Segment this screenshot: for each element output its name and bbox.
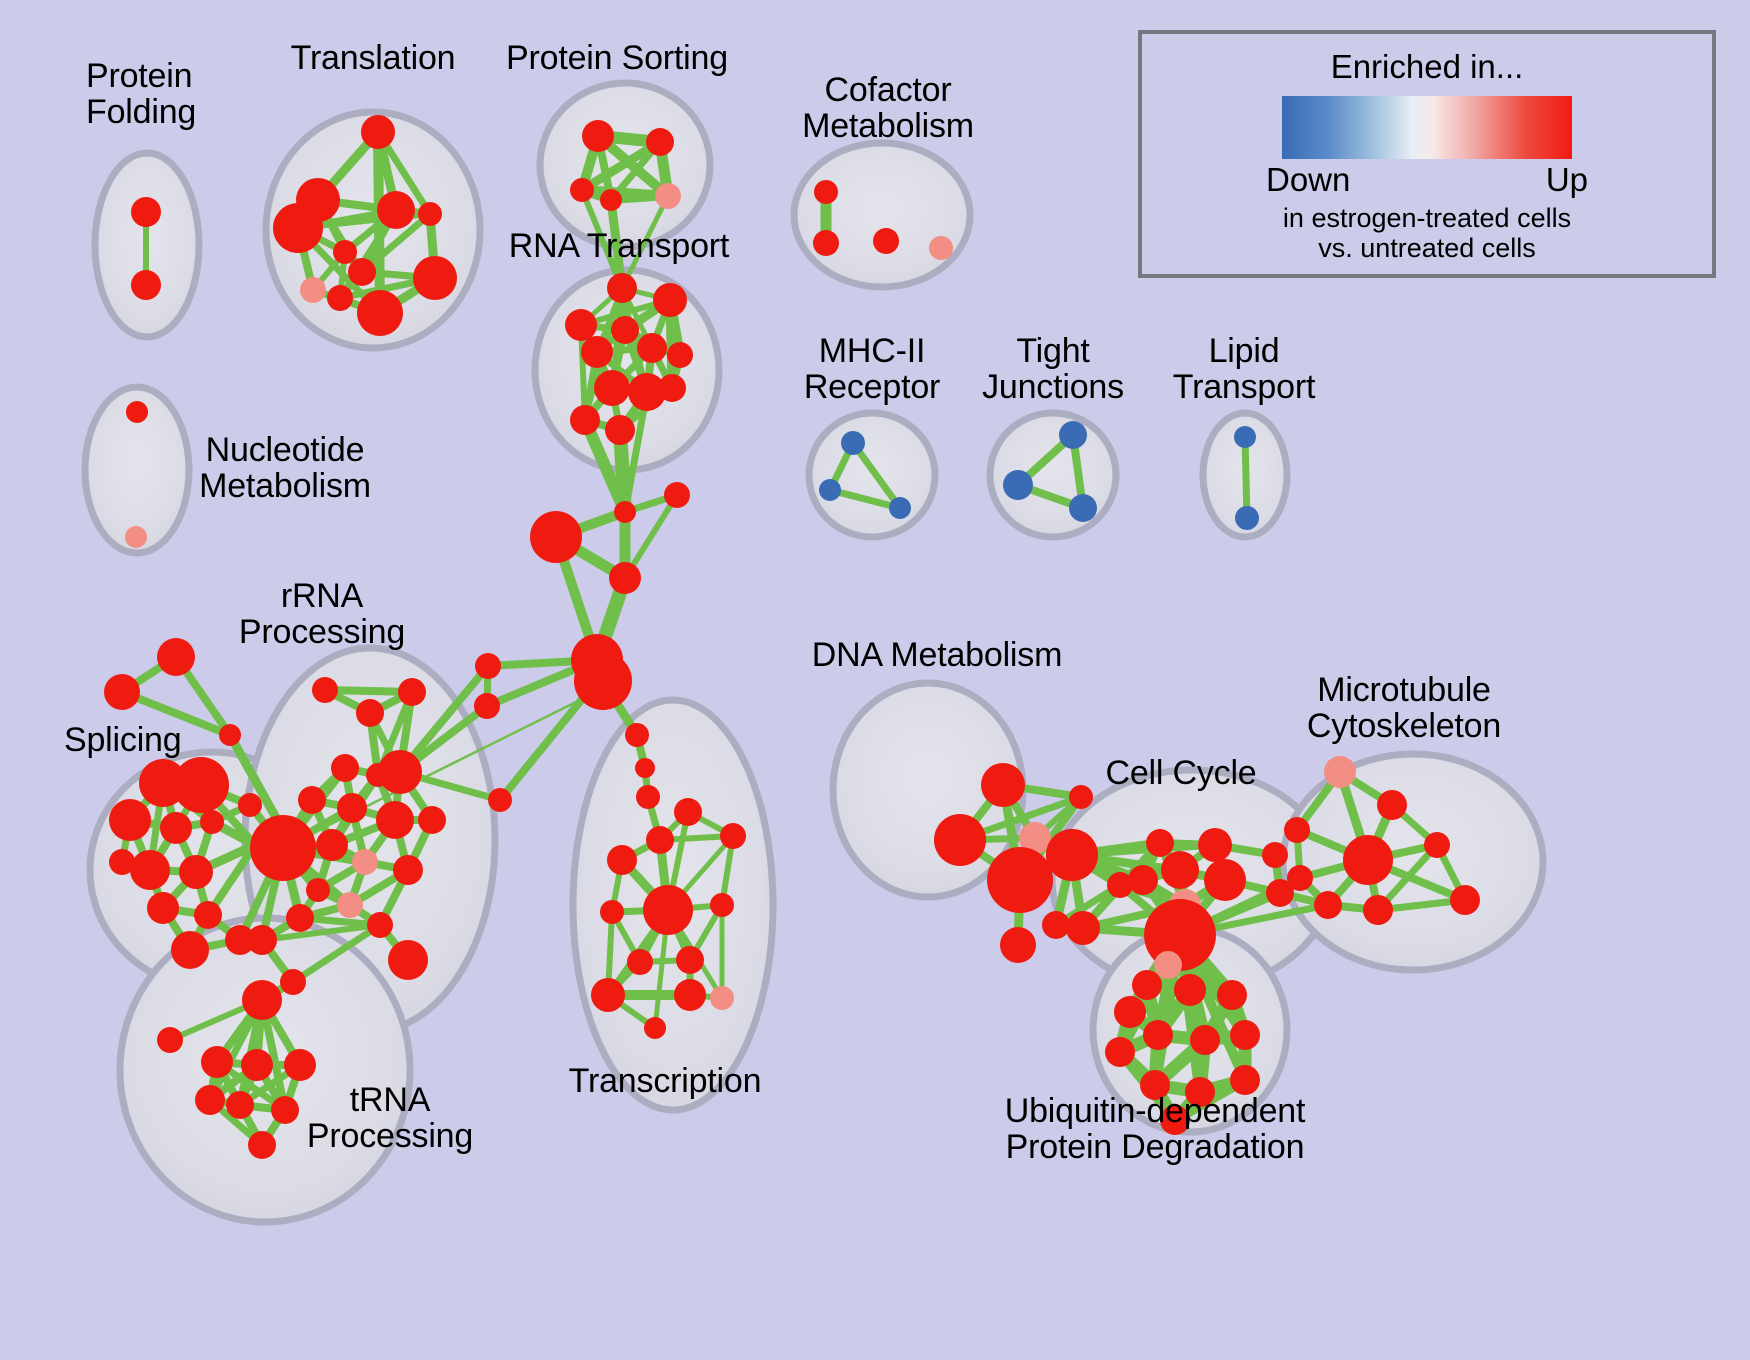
- node: [241, 1049, 273, 1081]
- cluster-label-nucleotide-metabolism: Nucleotide Metabolism: [199, 432, 371, 504]
- node: [1190, 1025, 1220, 1055]
- node: [125, 526, 147, 548]
- node: [929, 236, 953, 260]
- cluster-label-rna-transport: RNA Transport: [509, 228, 729, 264]
- cluster-label-protein-sorting: Protein Sorting: [506, 40, 728, 76]
- node: [611, 316, 639, 344]
- node: [413, 256, 457, 300]
- node: [1324, 756, 1356, 788]
- node: [607, 273, 637, 303]
- node: [1069, 785, 1093, 809]
- cluster-label-protein-folding: Protein Folding: [86, 58, 196, 130]
- cluster-label-ubiquitin-protein-degradation: Ubiquitin-dependent Protein Degradation: [1005, 1093, 1306, 1165]
- node: [195, 1085, 225, 1115]
- node: [306, 878, 330, 902]
- node: [600, 900, 624, 924]
- node: [393, 855, 423, 885]
- node: [1132, 970, 1162, 1000]
- node: [300, 277, 326, 303]
- node: [333, 240, 357, 264]
- node: [981, 763, 1025, 807]
- legend-panel: Enriched in... Down Up in estrogen-treat…: [1138, 30, 1716, 278]
- node: [284, 1049, 316, 1081]
- node: [337, 793, 367, 823]
- node: [357, 290, 403, 336]
- node: [348, 258, 376, 286]
- cluster-label-trna-processing: tRNA Processing: [307, 1082, 473, 1154]
- cluster-ellipse-microtubule: [1283, 754, 1543, 970]
- node: [157, 1027, 183, 1053]
- node: [674, 979, 706, 1011]
- node: [1154, 951, 1182, 979]
- node: [1174, 974, 1206, 1006]
- node: [581, 336, 613, 368]
- node: [637, 333, 667, 363]
- cluster-label-dna-metabolism: DNA Metabolism: [812, 637, 1062, 673]
- node: [646, 826, 674, 854]
- cluster-label-mhc-ii-receptor: MHC-II Receptor: [804, 333, 940, 405]
- node: [1314, 891, 1342, 919]
- node: [636, 785, 660, 809]
- node: [1377, 790, 1407, 820]
- node: [1069, 494, 1097, 522]
- node: [131, 197, 161, 227]
- node: [643, 885, 693, 935]
- node: [530, 511, 582, 563]
- cluster-label-microtubule-cytoskeleton: Microtubule Cytoskeleton: [1307, 672, 1501, 744]
- node: [1287, 865, 1313, 891]
- node: [565, 309, 597, 341]
- node: [194, 901, 222, 929]
- node: [594, 370, 630, 406]
- node: [600, 189, 622, 211]
- node: [674, 798, 702, 826]
- node: [1217, 980, 1247, 1010]
- node: [280, 969, 306, 995]
- node: [160, 812, 192, 844]
- node: [312, 677, 338, 703]
- node: [720, 823, 746, 849]
- node: [126, 401, 148, 423]
- node: [609, 562, 641, 594]
- node: [219, 724, 241, 746]
- cluster-label-translation: Translation: [291, 40, 456, 76]
- node: [179, 855, 213, 889]
- node: [488, 788, 512, 812]
- node: [331, 754, 359, 782]
- node: [1230, 1020, 1260, 1050]
- node: [1363, 895, 1393, 925]
- node: [667, 342, 693, 368]
- cluster-label-rrna-processing: rRNA Processing: [239, 578, 405, 650]
- cluster-label-cofactor-metabolism: Cofactor Metabolism: [802, 72, 974, 144]
- node: [378, 750, 422, 794]
- node: [655, 183, 681, 209]
- cluster-label-cell-cycle: Cell Cycle: [1105, 755, 1256, 791]
- node: [157, 638, 195, 676]
- node: [247, 925, 277, 955]
- cluster-label-lipid-transport: Lipid Transport: [1173, 333, 1315, 405]
- node: [574, 652, 632, 710]
- node: [889, 497, 911, 519]
- node: [646, 128, 674, 156]
- node: [474, 693, 500, 719]
- node: [1059, 421, 1087, 449]
- node: [635, 758, 655, 778]
- node: [200, 810, 224, 834]
- legend-subtitle: in estrogen-treated cells vs. untreated …: [1142, 203, 1712, 263]
- node: [238, 793, 262, 817]
- node: [173, 757, 229, 813]
- node: [591, 978, 625, 1012]
- legend-color-gradient: [1282, 96, 1572, 159]
- node: [819, 479, 841, 501]
- node: [418, 806, 446, 834]
- node: [873, 228, 899, 254]
- node: [1105, 1037, 1135, 1067]
- node: [109, 799, 151, 841]
- cluster-label-transcription: Transcription: [569, 1063, 762, 1099]
- node: [367, 912, 393, 938]
- node: [475, 653, 501, 679]
- node: [109, 849, 135, 875]
- node: [1284, 817, 1310, 843]
- node: [1046, 829, 1098, 881]
- node: [418, 202, 442, 226]
- node: [1235, 506, 1259, 530]
- node: [242, 980, 282, 1020]
- node: [841, 431, 865, 455]
- node: [1042, 911, 1070, 939]
- network-figure: .cl { fill:url(#cgrad); stroke:#adadc2; …: [0, 0, 1750, 1360]
- node: [1450, 885, 1480, 915]
- node: [130, 850, 170, 890]
- node: [1143, 1020, 1173, 1050]
- legend-title: Enriched in...: [1142, 48, 1712, 86]
- node: [1262, 842, 1288, 868]
- node: [607, 845, 637, 875]
- node: [352, 849, 378, 875]
- node: [147, 892, 179, 924]
- node: [327, 285, 353, 311]
- cluster-ellipse-cofactor: [794, 143, 970, 287]
- node: [1230, 1065, 1260, 1095]
- node: [644, 1017, 666, 1039]
- node: [1000, 927, 1036, 963]
- node: [1114, 996, 1146, 1028]
- node: [1003, 470, 1033, 500]
- node: [104, 674, 140, 710]
- node: [1146, 829, 1174, 857]
- node: [376, 801, 414, 839]
- node: [337, 892, 363, 918]
- node: [298, 786, 326, 814]
- node: [814, 180, 838, 204]
- node: [398, 678, 426, 706]
- node: [570, 405, 600, 435]
- node: [316, 829, 348, 861]
- cluster-label-splicing: Splicing: [64, 722, 181, 758]
- node: [934, 814, 986, 866]
- node: [286, 904, 314, 932]
- node: [361, 115, 395, 149]
- node: [1424, 832, 1450, 858]
- legend-high-label: Up: [1546, 161, 1588, 199]
- node: [627, 949, 653, 975]
- node: [356, 699, 384, 727]
- node: [1066, 911, 1100, 945]
- node: [653, 283, 687, 317]
- node: [987, 847, 1053, 913]
- node: [131, 270, 161, 300]
- node: [250, 815, 316, 881]
- node: [226, 1091, 254, 1119]
- node: [273, 203, 323, 253]
- node: [658, 374, 686, 402]
- node: [1161, 851, 1199, 889]
- cluster-label-tight-junctions: Tight Junctions: [982, 333, 1124, 405]
- node: [605, 415, 635, 445]
- node: [1128, 865, 1158, 895]
- node: [1204, 859, 1246, 901]
- legend-low-label: Down: [1266, 161, 1350, 199]
- node: [1343, 835, 1393, 885]
- node: [582, 120, 614, 152]
- node: [664, 482, 690, 508]
- node: [710, 893, 734, 917]
- node: [710, 986, 734, 1010]
- node: [625, 723, 649, 747]
- node: [1198, 828, 1232, 862]
- node: [1234, 426, 1256, 448]
- node: [570, 178, 594, 202]
- node: [676, 946, 704, 974]
- node: [813, 230, 839, 256]
- node: [171, 931, 209, 969]
- node: [201, 1046, 233, 1078]
- node: [614, 501, 636, 523]
- node: [271, 1096, 299, 1124]
- node: [377, 191, 415, 229]
- node: [248, 1131, 276, 1159]
- node: [388, 940, 428, 980]
